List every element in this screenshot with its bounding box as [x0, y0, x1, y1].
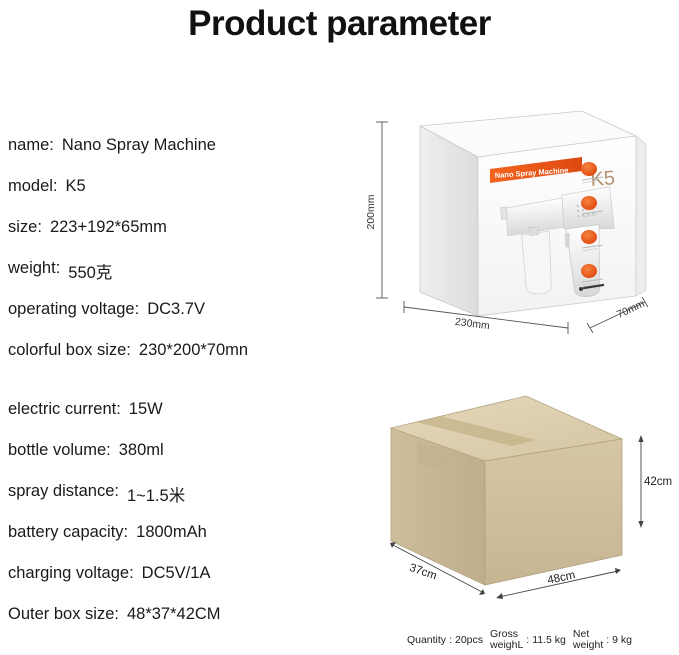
product-parameter-page: Product parameter name: Nano Spray Machi…: [0, 0, 679, 655]
spec-label: size:: [8, 218, 42, 237]
retail-box-front-face: [420, 126, 478, 316]
spec-value: K5: [58, 177, 86, 196]
spec-label: weight:: [8, 259, 60, 278]
gross-weight-label-line2: weighL: [490, 639, 523, 651]
page-title: Product parameter: [0, 4, 679, 44]
spec-value: 15W: [121, 400, 163, 419]
carton-dimension-height-label: 42cm: [644, 476, 672, 488]
net-weight-label-line2: weight: [573, 639, 603, 651]
dimension-depth: 70mm: [587, 297, 648, 333]
spec-value: DC3.7V: [139, 300, 205, 319]
spec-label: model:: [8, 177, 58, 196]
spec-value: 223+192*65mm: [42, 218, 167, 237]
spec-row-colorful-box-size: colorful box size: 230*200*70mn: [8, 341, 348, 382]
gross-weight-separator: :: [526, 634, 529, 646]
net-weight-separator: :: [606, 634, 609, 646]
spec-label: bottle volume:: [8, 441, 111, 460]
spec-row-size: size: 223+192*65mm: [8, 218, 348, 259]
spec-label: battery capacity:: [8, 523, 128, 542]
spec-label: spray distance:: [8, 482, 119, 501]
gross-weight-value: 11.5 kg: [532, 634, 566, 646]
spec-row-operating-voltage: operating voltage: DC3.7V: [8, 300, 348, 341]
retail-box-side-face: [636, 136, 646, 296]
spec-row-electric-current: electric current: 15W: [8, 400, 348, 441]
spec-row-outer-box-size: Outer box size: 48*37*42CM: [8, 605, 348, 646]
spec-label: Outer box size:: [8, 605, 119, 624]
quantity-separator: :: [449, 634, 452, 646]
net-weight-item: Net weight : 9 kg: [573, 629, 632, 650]
quantity-item: Quantity : 20pcs: [407, 634, 483, 646]
gross-weight-item: Gross weighL : 11.5 kg: [490, 629, 566, 650]
carton-illustration: 42cm 37cm 48cm: [360, 385, 679, 620]
carton-dimension-height: 42cm: [638, 435, 672, 528]
retail-box-illustration: Nano Spray Machine K5: [360, 100, 679, 355]
spec-label: operating voltage:: [8, 300, 139, 319]
spec-row-model: model: K5: [8, 177, 348, 218]
spec-row-battery-capacity: battery capacity: 1800mAh: [8, 523, 348, 564]
spec-row-weight: weight: 550克: [8, 259, 348, 300]
spec-label: charging voltage:: [8, 564, 134, 583]
spec-value: 48*37*42CM: [119, 605, 221, 624]
spec-value: 230*200*70mn: [131, 341, 248, 360]
dimension-width-label: 230mm: [454, 316, 491, 332]
dimension-height: 200mm: [365, 122, 388, 298]
spec-row-bottle-volume: bottle volume: 380ml: [8, 441, 348, 482]
spec-label: colorful box size:: [8, 341, 131, 360]
spec-value: 1800mAh: [128, 523, 207, 542]
spec-label: name:: [8, 136, 54, 155]
dimension-height-label: 200mm: [365, 194, 377, 229]
packing-caption: Quantity : 20pcs Gross weighL : 11.5 kg …: [360, 625, 679, 655]
spec-value: DC5V/1A: [134, 564, 211, 583]
carton-dimension-width-label: 48cm: [546, 569, 576, 587]
carton-front-face: [485, 439, 622, 585]
spec-row-name: name: Nano Spray Machine: [8, 136, 348, 177]
gross-weight-label: Gross weighL: [490, 629, 523, 650]
spec-value: 380ml: [111, 441, 164, 460]
specification-list: name: Nano Spray Machine model: K5 size:…: [8, 136, 348, 646]
spec-row-charging-voltage: charging voltage: DC5V/1A: [8, 564, 348, 605]
net-weight-label: Net weight: [573, 629, 603, 650]
quantity-value: 20pcs: [455, 634, 483, 646]
net-weight-value: 9 kg: [612, 634, 632, 646]
spec-value: Nano Spray Machine: [54, 136, 216, 155]
quantity-label: Quantity: [407, 634, 446, 646]
dimension-depth-label: 70mm: [615, 298, 647, 321]
carton-dimension-depth-label: 37cm: [408, 562, 438, 583]
spec-row-spray-distance: spray distance: 1~1.5米: [8, 482, 348, 523]
spec-value: 1~1.5米: [119, 482, 185, 506]
spec-value: 550克: [60, 259, 112, 283]
spec-label: electric current:: [8, 400, 121, 419]
